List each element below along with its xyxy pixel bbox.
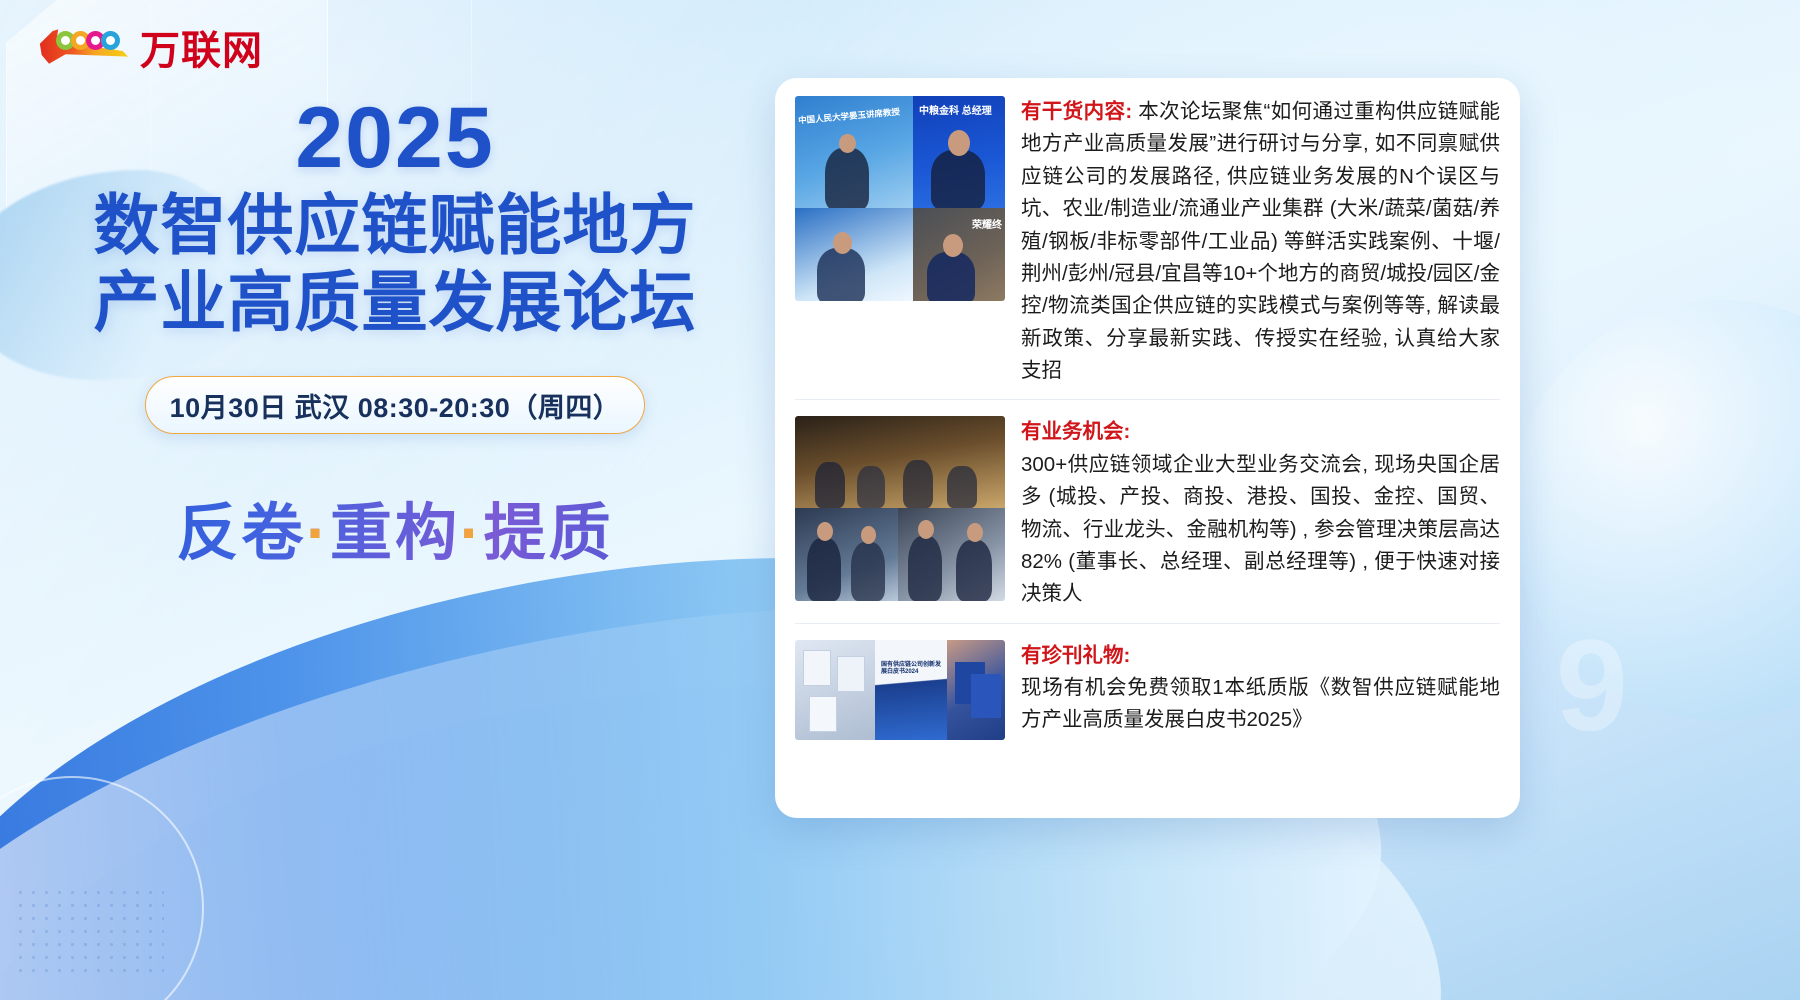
section-heading: 有干货内容: — [1021, 100, 1132, 123]
brand-name: 万联网 — [140, 18, 263, 76]
section-text: 现场有机会免费领取1本纸质版《数智供应链赋能地方产业高质量发展白皮书2025》 — [1021, 672, 1500, 737]
hero-block: 2025 数智供应链赋能地方 产业高质量发展论坛 10月30日 武汉 08:30… — [0, 95, 790, 572]
highlight-body: 有干货内容: 本次论坛聚焦“如何通过重构供应链赋能地方产业高质量发展”进行研讨与… — [1021, 96, 1500, 387]
event-year: 2025 — [0, 95, 790, 181]
event-title-line2: 产业高质量发展论坛 — [0, 264, 790, 341]
background-watermark-number: 9 — [1556, 610, 1630, 760]
highlight-section: 国有供应链公司创新发展白皮书2024 有珍刊礼物: 现场有机会免费领取1本纸质版… — [795, 623, 1500, 740]
background-dot-grid — [14, 886, 164, 976]
highlight-body: 有珍刊礼物: 现场有机会免费领取1本纸质版《数智供应链赋能地方产业高质量发展白皮… — [1021, 640, 1500, 737]
event-title: 数智供应链赋能地方 产业高质量发展论坛 — [0, 187, 790, 340]
photo-caption: 中国人民大学晏玉讲席教授 — [798, 106, 901, 127]
poster-canvas: 9 万联网 2025 数智供应链赋能地方 产业高质量发展论坛 10月30日 武汉… — [0, 0, 1800, 1000]
highlight-body: 有业务机会: 300+供应链领域企业大型业务交流会, 现场央国企居多 (城投、产… — [1021, 416, 1500, 610]
slogan-separator-2: · — [460, 499, 484, 568]
slogan-word-1: 反卷 — [176, 499, 306, 568]
photo-caption: 荣耀终 — [972, 216, 1002, 231]
photo-caption: 国有供应链公司创新发展白皮书2024 — [881, 662, 941, 678]
highlight-section: 中国人民大学晏玉讲席教授 中粮金科 总经理 荣耀终 — [795, 96, 1500, 387]
section-heading: 有业务机会: — [1021, 416, 1500, 448]
wanlian-logo-icon — [38, 21, 130, 73]
slogan-word-3: 提质 — [484, 499, 614, 568]
brand-logo: 万联网 — [38, 18, 263, 76]
photo-caption: 中粮金科 总经理 — [919, 102, 992, 117]
slogan-word-2: 重构 — [330, 499, 460, 568]
section-heading: 有珍刊礼物: — [1021, 640, 1500, 672]
networking-collage-photo — [795, 416, 1005, 601]
event-date-banner: 10月30日 武汉 08:30-20:30（周四） — [145, 376, 645, 434]
event-title-line1: 数智供应链赋能地方 — [0, 187, 790, 264]
highlights-card: 中国人民大学晏玉讲席教授 中粮金科 总经理 荣耀终 — [775, 78, 1520, 818]
speakers-collage-photo: 中国人民大学晏玉讲席教授 中粮金科 总经理 荣耀终 — [795, 96, 1005, 301]
section-text: 300+供应链领域企业大型业务交流会, 现场央国企居多 (城投、产投、商投、港投… — [1021, 449, 1500, 611]
highlight-section: 有业务机会: 300+供应链领域企业大型业务交流会, 现场央国企居多 (城投、产… — [795, 399, 1500, 610]
section-text: 本次论坛聚焦“如何通过重构供应链赋能地方产业高质量发展”进行研讨与分享, 如不同… — [1021, 100, 1500, 382]
slogan-separator-1: · — [306, 499, 330, 568]
event-slogan: 反卷·重构·提质 — [0, 482, 790, 572]
whitepaper-collage-photo: 国有供应链公司创新发展白皮书2024 — [795, 640, 1005, 740]
